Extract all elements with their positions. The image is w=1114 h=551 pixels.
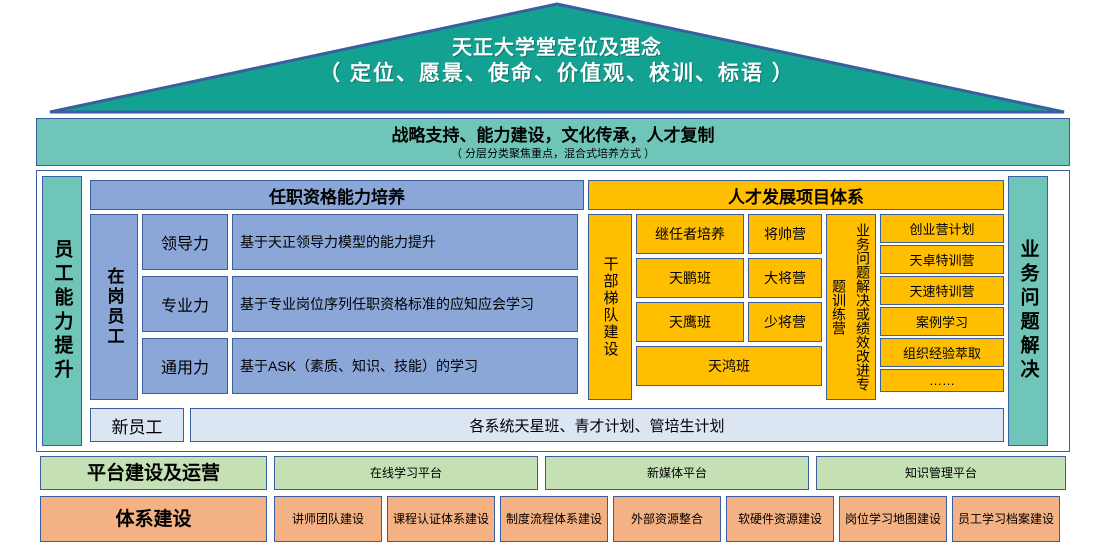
strategy-band-main: 战略支持、能力建设，文化传承，人才复制 [37,119,1069,147]
system-item-learning-map: 岗位学习地图建设 [839,496,947,542]
new-employee-tag: 新员工 [90,408,184,442]
onjob-employee-group: 在岗员工 [90,214,138,400]
talent-development-header: 人才发展项目体系 [588,180,1004,210]
right-column-label: 业务问题解决 [1019,239,1038,383]
system-item-trainer-team: 讲师团队建设 [274,496,382,542]
business-training-camp-group: 业务问题解决或绩效改进专题训练营 [826,214,876,400]
framework-diagram: 天正大学堂定位及理念 （ 定位、愿景、使命、价值观、校训、标语 ） 战略支持、能… [0,0,1114,551]
system-item-external-resource: 外部资源整合 [613,496,721,542]
capability-cell-professional: 专业力 [142,276,228,332]
capability-desc-general: 基于ASK（素质、知识、技能）的学习 [232,338,578,394]
platform-row-title: 平台建设及运营 [40,456,267,490]
cadre-echelon-group: 干部梯队建设 [588,214,632,400]
platform-item-online-learning: 在线学习平台 [274,456,538,490]
cadre-item-major-camp: 大将营 [748,258,822,298]
new-employee-programs: 各系统天星班、青才计划、管培生计划 [190,408,1004,442]
cadre-item-tianhong: 天鸿班 [636,346,822,386]
talent-development-body: 干部梯队建设 继任者培养 将帅营 天鹏班 大将营 天鹰班 少将营 天鸿班 业务问… [588,214,1004,400]
platform-item-knowledge-management: 知识管理平台 [816,456,1066,490]
left-column-label: 员工能力提升 [53,239,72,383]
qualification-body: 在岗员工 领导力 基于天正领导力模型的能力提升 专业力 基于专业岗位序列任职资格… [90,214,584,400]
business-item-startup-camp: 创业营计划 [880,214,1004,243]
business-item-tiansu-camp: 天速特训营 [880,276,1004,305]
business-item-experience-extraction: 组织经验萃取 [880,338,1004,367]
capability-desc-professional: 基于专业岗位序列任职资格标准的应知应会学习 [232,276,578,332]
cadre-item-successor: 继任者培养 [636,214,744,254]
system-item-learning-archive: 员工学习档案建设 [952,496,1060,542]
strategy-band-sub: （ 分层分类聚焦重点，混合式培养方式 ） [37,147,1069,161]
business-training-camp-label: 业务问题解决或绩效改进专题训练营 [827,217,875,397]
cadre-echelon-label: 干部梯队建设 [600,256,621,358]
capability-cell-general: 通用力 [142,338,228,394]
system-row-title: 体系建设 [40,496,267,542]
system-item-course-certification: 课程认证体系建设 [387,496,495,542]
right-column-business-problem: 业务问题解决 [1008,176,1048,446]
cadre-item-tianying: 天鹰班 [636,302,744,342]
left-column-employee-capability: 员工能力提升 [42,176,82,446]
strategy-band: 战略支持、能力建设，文化传承，人才复制 （ 分层分类聚焦重点，混合式培养方式 ） [36,118,1070,166]
cadre-item-tianpeng: 天鹏班 [636,258,744,298]
business-item-ellipsis: …… [880,369,1004,392]
business-item-case-study: 案例学习 [880,307,1004,336]
qualification-header: 任职资格能力培养 [90,180,584,210]
capability-cell-leadership: 领导力 [142,214,228,270]
cadre-item-minor-camp: 少将营 [748,302,822,342]
business-item-tianzhuo-camp: 天卓特训营 [880,245,1004,274]
system-item-process-system: 制度流程体系建设 [500,496,608,542]
capability-desc-leadership: 基于天正领导力模型的能力提升 [232,214,578,270]
roof-shape: 天正大学堂定位及理念 （ 定位、愿景、使命、价值观、校训、标语 ） [48,2,1066,114]
platform-item-new-media: 新媒体平台 [545,456,809,490]
onjob-employee-label: 在岗员工 [102,267,127,347]
cadre-item-general-camp: 将帅营 [748,214,822,254]
system-item-hardware-software: 软硬件资源建设 [726,496,834,542]
